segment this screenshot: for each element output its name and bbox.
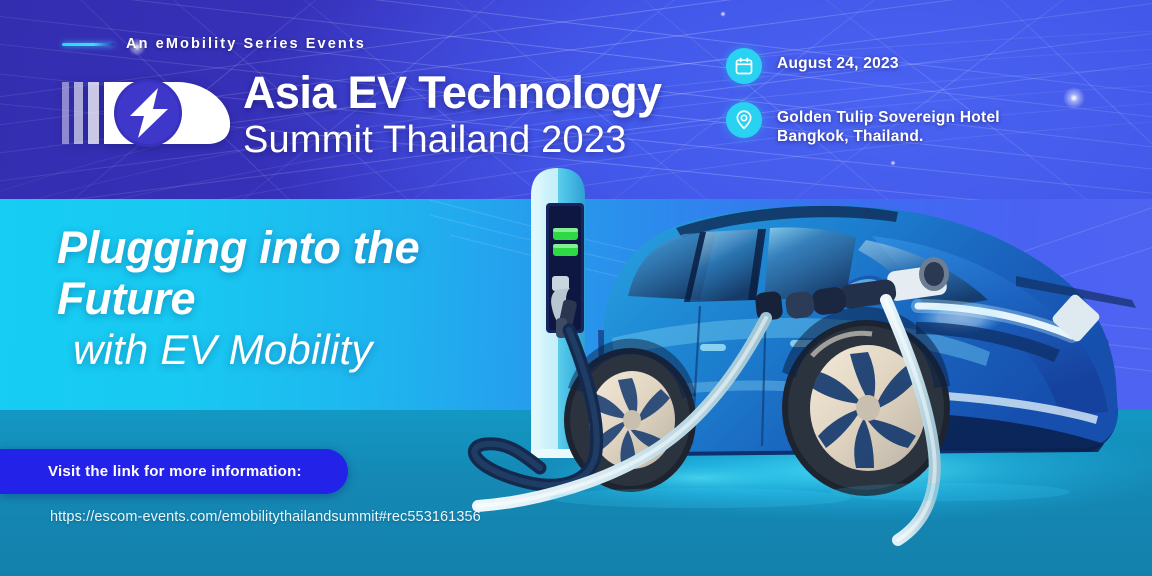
eyebrow-text: An eMobility Series Events xyxy=(126,36,366,52)
headline-line-3: with EV Mobility xyxy=(57,324,419,376)
headline-line-2: Future xyxy=(57,273,419,324)
venue-line-2: Bangkok, Thailand. xyxy=(777,127,1000,146)
location-pin-icon xyxy=(726,102,762,138)
title-line-2: Summit Thailand 2023 xyxy=(243,118,661,162)
banner-headline: Plugging into the Future with EV Mobilit… xyxy=(57,222,419,376)
event-date-row: August 24, 2023 xyxy=(726,48,1000,84)
cta-label: Visit the link for more information: xyxy=(0,463,302,480)
cta-pill[interactable]: Visit the link for more information: xyxy=(0,449,348,494)
ev-car-bolt-logo xyxy=(58,66,238,158)
calendar-icon xyxy=(726,48,762,84)
headline-line-1: Plugging into the xyxy=(57,222,419,273)
event-title: Asia EV Technology Summit Thailand 2023 xyxy=(243,68,661,162)
banner-header: An eMobility Series Events xyxy=(0,0,1152,200)
event-venue-text: Golden Tulip Sovereign Hotel Bangkok, Th… xyxy=(777,102,1000,146)
title-line-1: Asia EV Technology xyxy=(243,68,661,118)
eyebrow-row: An eMobility Series Events xyxy=(62,36,366,52)
event-info-block: August 24, 2023 Golden Tulip Sovereign H… xyxy=(726,48,1000,164)
event-date-text: August 24, 2023 xyxy=(777,48,899,73)
event-banner: An eMobility Series Events xyxy=(0,0,1152,576)
event-url[interactable]: https://escom-events.com/emobilitythaila… xyxy=(50,509,481,525)
cyan-accent-line xyxy=(62,43,114,46)
venue-line-1: Golden Tulip Sovereign Hotel xyxy=(777,109,1000,126)
event-venue-row: Golden Tulip Sovereign Hotel Bangkok, Th… xyxy=(726,102,1000,146)
